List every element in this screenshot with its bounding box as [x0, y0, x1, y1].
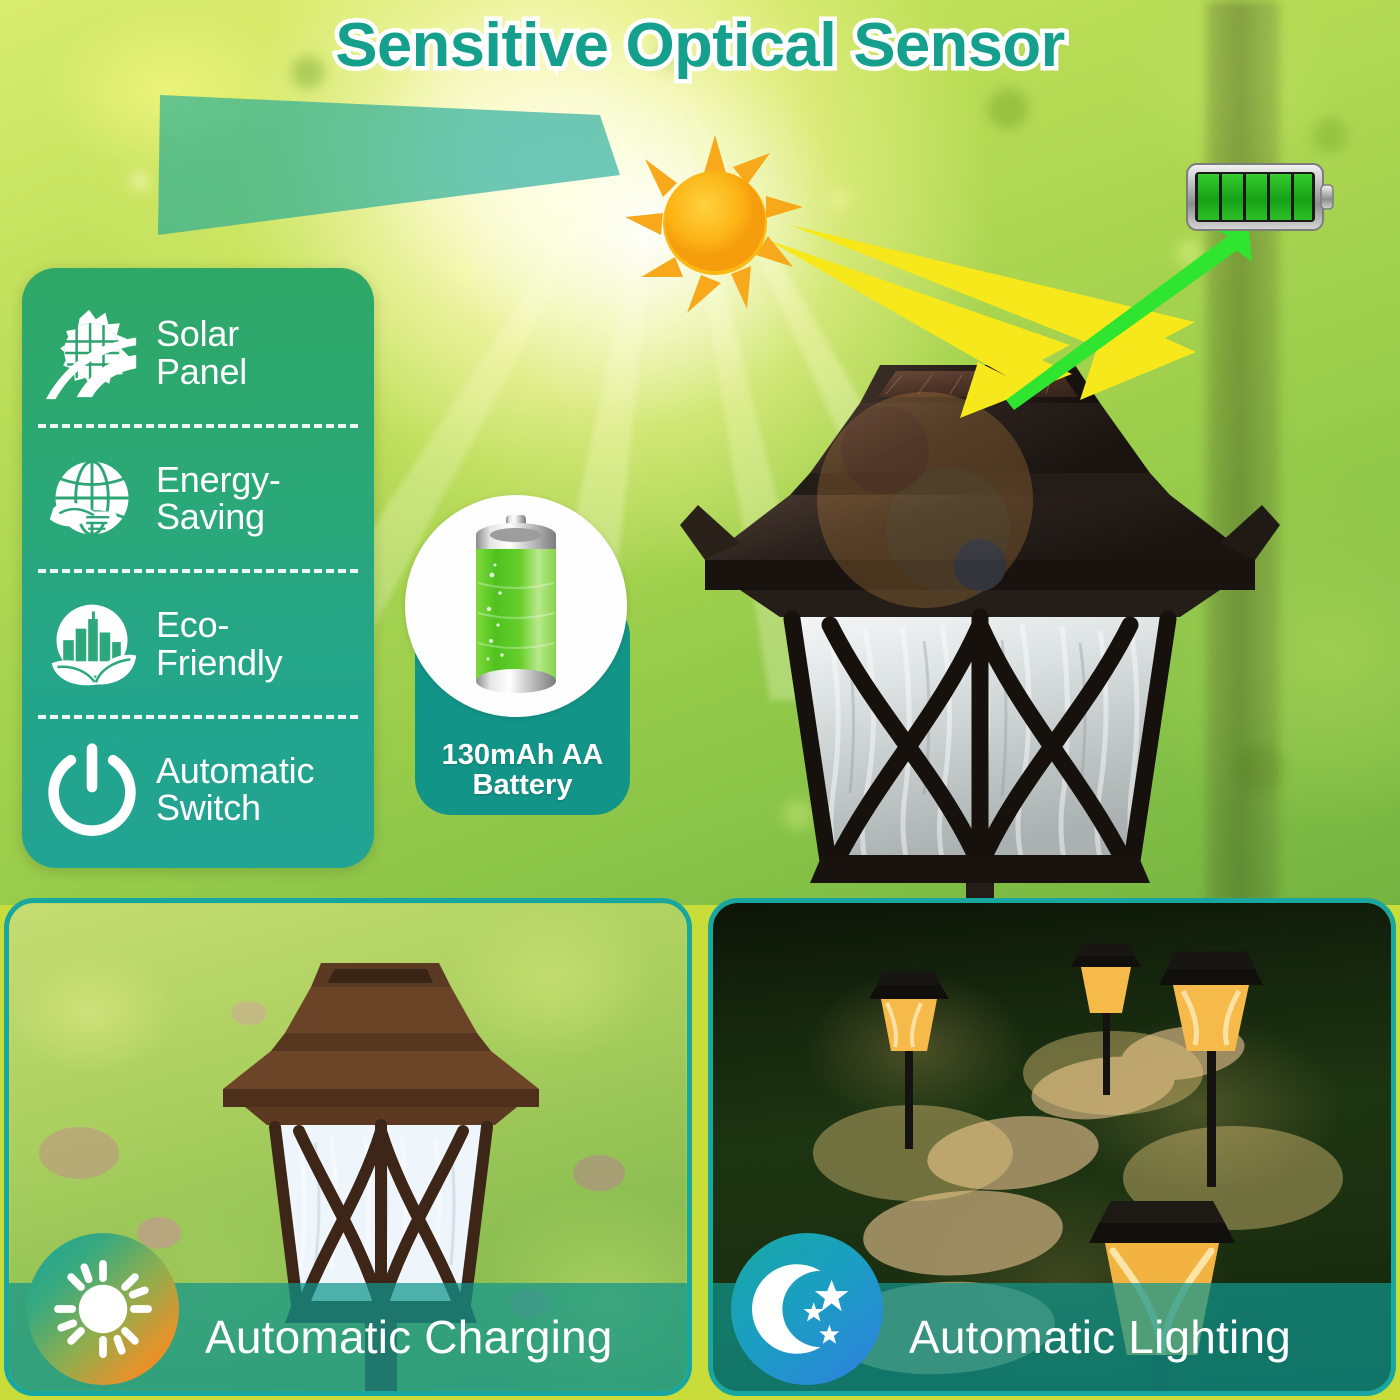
feature-label: Solar Panel [156, 315, 247, 390]
solar-panel-icon [44, 305, 140, 401]
page-title: Sensitive Optical Sensor [0, 10, 1400, 81]
feature-label: Automatic Switch [156, 752, 314, 827]
caption-label: Automatic Charging [205, 1310, 613, 1364]
feature-item-solar-panel[interactable]: Solar Panel [22, 282, 374, 424]
sun-icon [27, 1233, 179, 1385]
feature-item-energy-saving[interactable]: Energy- Saving [22, 428, 374, 570]
feature-panel: Solar Panel [22, 268, 374, 868]
feature-label: Energy- Saving [156, 461, 281, 536]
caption-label: Automatic Lighting [909, 1310, 1291, 1364]
battery-callout-label: 130mAh AA Battery [415, 740, 630, 801]
sun-icon [625, 135, 805, 315]
battery-full-icon [1185, 160, 1335, 235]
photo-automatic-charging: Automatic Charging [4, 898, 692, 1396]
feature-label: Eco- Friendly [156, 606, 282, 681]
battery-callout: 130mAh AA Battery [405, 495, 635, 815]
feature-item-automatic-switch[interactable]: Automatic Switch [22, 719, 374, 861]
feature-item-eco-friendly[interactable]: Eco- Friendly [22, 573, 374, 715]
photo-automatic-lighting: Automatic Lighting [708, 898, 1396, 1396]
moon-stars-icon [731, 1233, 883, 1385]
solar-path-lamp [680, 355, 1340, 915]
city-leaf-icon [44, 596, 140, 692]
infographic-stage: Sensitive Optical Sensor [0, 0, 1400, 1400]
globe-hand-icon [44, 450, 140, 546]
power-switch-icon [44, 741, 140, 837]
aa-battery-icon [462, 513, 570, 698]
